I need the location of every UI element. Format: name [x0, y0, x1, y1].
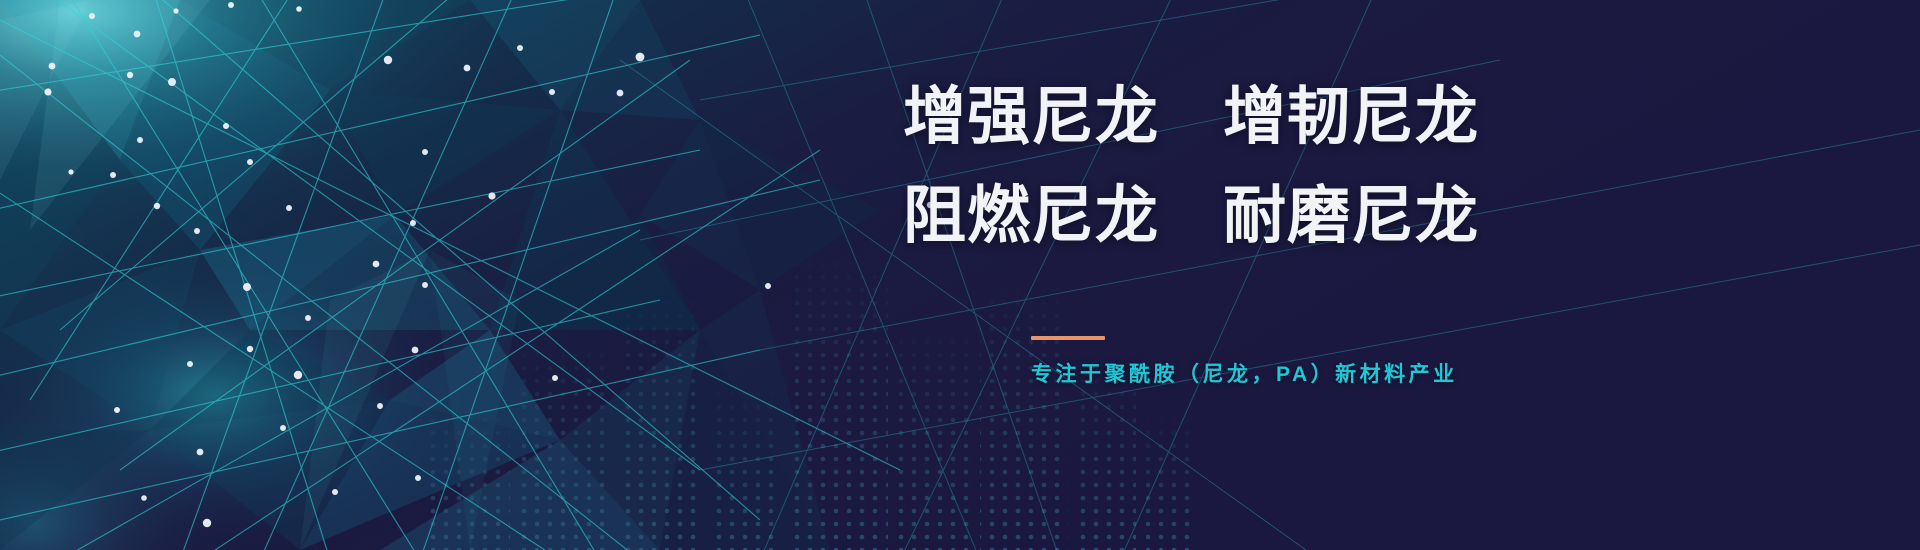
hero-banner: 增强尼龙 增韧尼龙 阻燃尼龙 耐磨尼龙 专注于聚酰胺（尼龙，PA）新材料产业	[0, 0, 1920, 550]
headline-line-2: 阻燃尼龙 耐磨尼龙	[903, 185, 1523, 248]
tagline: 专注于聚酰胺（尼龙，PA）新材料产业	[903, 358, 1523, 388]
divider-wrapper	[903, 336, 1523, 340]
accent-divider	[1031, 336, 1105, 340]
headline-line-1: 增强尼龙 增韧尼龙	[903, 86, 1523, 149]
banner-content: 增强尼龙 增韧尼龙 阻燃尼龙 耐磨尼龙 专注于聚酰胺（尼龙，PA）新材料产业	[903, 86, 1523, 388]
